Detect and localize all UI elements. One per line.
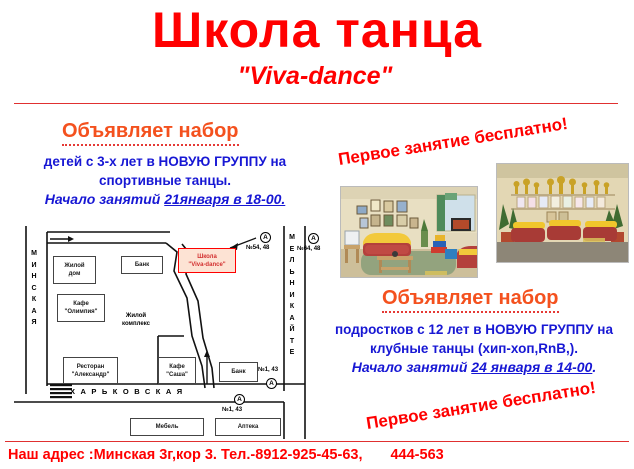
bus-stop-symbol-2: А [311, 235, 316, 242]
offer-children-start-prefix: Начало занятий [45, 191, 161, 207]
photo-trophy-hall-graphic [497, 164, 628, 262]
street-kharkovskaya: ХАРЬКОВСКАЯ [70, 387, 188, 396]
map-box-school-viva-dance: Школа "Viva-dance" [178, 248, 236, 273]
map-box-bank-upper: Банк [121, 256, 163, 274]
map-label-residential-complex-l1: Жилой [126, 313, 146, 319]
divider-bottom [5, 441, 629, 442]
footer-address: Наш адрес :Минская 3г,кор 3. Тел.-8912-9… [8, 447, 362, 463]
offer-children-body: детей с 3-х лет в НОВУЮ ГРУППУ на спорти… [10, 152, 320, 209]
bus-stop-icon-2: А [308, 233, 319, 244]
map-box-residential-house-l1: Жилой [64, 262, 84, 270]
map-box-furniture: Мебель [130, 418, 204, 436]
page-title: Школа танца [0, 2, 634, 58]
map-box-school-l2: "Viva-dance" [188, 261, 225, 269]
offer-teens-line1: подростков с 12 лет в НОВУЮ ГРУППУ на [318, 320, 630, 339]
map-box-cafe-olympia-l2: "Олимпия" [64, 308, 97, 316]
offer-teens-body: подростков с 12 лет в НОВУЮ ГРУППУ на кл… [318, 320, 630, 377]
map-box-cafe-sasha-l1: Кафе [169, 363, 185, 371]
footer-contact: Наш адрес :Минская 3г,кор 3. Тел.-8912-9… [8, 447, 444, 463]
map-box-pharmacy-l1: Аптека [238, 423, 259, 431]
map-box-cafe-olympia: Кафе "Олимпия" [57, 294, 105, 322]
street-minskaya: МИНСКАЯ [29, 248, 39, 329]
dotted-underline [382, 311, 559, 313]
bus-stop-symbol-4: А [237, 396, 242, 403]
bus-stop-icon-3: А [266, 378, 277, 389]
offer-children-line1: детей с 3-х лет в НОВУЮ ГРУППУ на [10, 152, 320, 171]
offer-teens-start-value: 24 января в 14-00 [471, 359, 592, 375]
offer-teens-line2: клубные танцы (хип-хоп,RnB,). [318, 339, 630, 358]
bus-stop-routes-1: №54, 48 [246, 245, 269, 251]
offer-children-start-value: 21января в 18-00. [164, 191, 285, 207]
free-lesson-banner-bottom: Первое занятие бесплатно! [365, 378, 597, 434]
photo-trophy-hall [496, 163, 629, 263]
map-box-bank-lower-l1: Банк [231, 368, 245, 376]
poster-canvas: Школа танца "Viva-dance" Объявляет набор… [0, 0, 634, 469]
page-subtitle: "Viva-dance" [0, 62, 630, 90]
map-box-bank-lower: Банк [219, 362, 258, 382]
street-melnikayte: МЕЛЬНИКАЙТЕ [287, 232, 297, 359]
map-box-bank-upper-l1: Банк [135, 261, 149, 269]
offer-children-start: Начало занятий 21января в 18-00. [10, 190, 320, 209]
map-box-cafe-sasha: Кафе "Саша" [158, 357, 196, 384]
offer-children-headline-text: Объявляет набор [62, 120, 239, 142]
free-lesson-banner-top: Первое занятие бесплатно! [337, 114, 569, 170]
map-box-furniture-l1: Мебель [156, 423, 179, 431]
offer-teens-headline: Объявляет набор [382, 287, 559, 313]
offer-teens-start-prefix: Начало занятий [352, 359, 468, 375]
bus-stop-symbol-1: А [263, 234, 268, 241]
offer-teens-headline-text: Объявляет набор [382, 287, 559, 309]
offer-teens-start-suffix: . [592, 359, 596, 375]
divider-top [14, 103, 618, 104]
footer-phone-secondary: 444-563 [362, 447, 443, 463]
map-box-restaurant-alexandr: Ресторан "Александр" [63, 357, 118, 384]
map-box-pharmacy: Аптека [215, 418, 281, 436]
map-box-restaurant-alexandr-l1: Ресторан [77, 363, 105, 371]
offer-children-headline: Объявляет набор [62, 120, 239, 146]
bus-stop-symbol-3: А [269, 380, 274, 387]
offer-teens-start: Начало занятий 24 января в 14-00. [318, 358, 630, 377]
map-box-residential-house: Жилой дом [53, 256, 96, 284]
location-map: МИНСКАЯ МЕЛЬНИКАЙТЕ ХАРЬКОВСКАЯ Жилой до… [6, 226, 318, 439]
offer-children-line2: спортивные танцы. [10, 171, 320, 190]
dotted-underline [62, 144, 239, 146]
map-box-residential-house-l2: дом [69, 270, 81, 278]
photo-lounge-room-graphic [341, 187, 477, 277]
map-box-restaurant-alexandr-l2: "Александр" [72, 371, 110, 379]
bus-stop-icon-1: А [260, 232, 271, 243]
map-label-residential-complex: Жилой комплекс [106, 312, 166, 328]
map-label-residential-complex-l2: комплекс [122, 321, 150, 327]
bus-stop-routes-2: №64, 48 [297, 246, 320, 252]
bus-stop-routes-4: №1, 43 [222, 407, 242, 413]
photo-lounge-room [340, 186, 478, 278]
bus-stop-icon-4: А [234, 394, 245, 405]
map-box-school-l1: Школа [197, 253, 217, 261]
map-box-cafe-olympia-l1: Кафе [73, 300, 89, 308]
bus-stop-routes-3: №1, 43 [258, 367, 278, 373]
map-box-cafe-sasha-l2: "Саша" [166, 371, 188, 379]
